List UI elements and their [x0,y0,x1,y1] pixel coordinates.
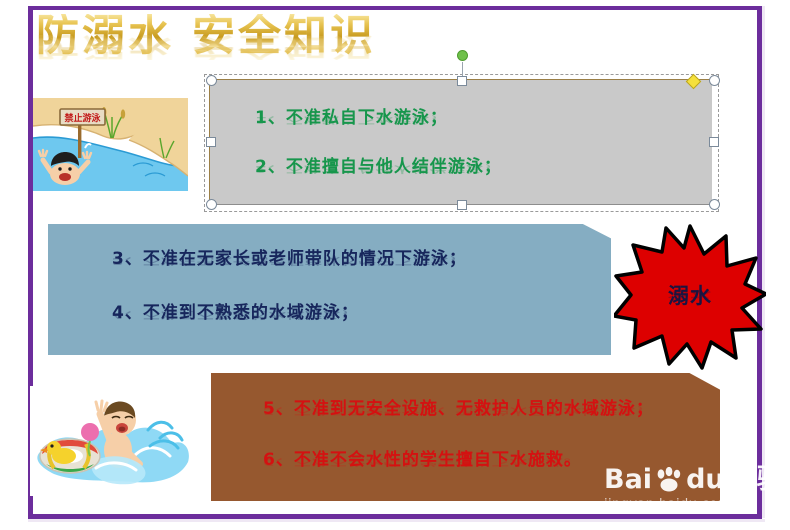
starburst-label-reflection: 溺水 [614,288,766,305]
slide-title[interactable]: 防溺水 安全知识 防溺水 安全知识 [34,6,364,88]
rules-box-blue[interactable]: 3、不准在无家长或老师带队的情况下游泳；3、不准在无家长或老师带队的情况下游泳；… [48,224,611,355]
svg-text:禁止游泳: 禁止游泳 [64,112,101,124]
rule-line-6: 6、不准不会水性的学生擅自下水施救。6、不准不会水性的学生擅自下水施救。 [263,445,582,470]
rules-box-brown[interactable]: 5、不准到无安全设施、无救护人员的水域游泳；5、不准到无安全设施、无救护人员的水… [211,373,720,501]
rule-line-5-reflection: 5、不准到无安全设施、无救护人员的水域游泳； [263,405,654,419]
rule-line-6-reflection: 6、不准不会水性的学生擅自下水施救。 [263,456,582,470]
slide-title-reflection: 防溺水 安全知识 [36,32,376,60]
rule-line-4: 4、不准到不熟悉的水域游泳；4、不准到不熟悉的水域游泳； [112,298,359,323]
drowning-warning-starburst[interactable]: 溺水 溺水 [614,224,766,370]
rotate-handle[interactable] [457,50,468,61]
top-center-handle[interactable] [457,76,467,86]
rule-line-1-reflection: 1、不准私自下水游泳； [255,114,448,128]
rule-line-1: 1、不准私自下水游泳；1、不准私自下水游泳； [255,103,448,128]
middle-left-handle[interactable] [206,137,216,147]
rule-line-3: 3、不准在无家长或老师带队的情况下游泳；3、不准在无家长或老师带队的情况下游泳； [112,244,467,269]
bottom-right-handle[interactable] [709,199,720,210]
top-right-handle[interactable] [709,75,720,86]
rule-line-3-reflection: 3、不准在无家长或老师带队的情况下游泳； [112,255,467,269]
rule-line-2-reflection: 2、不准擅自与他人结伴游泳； [255,163,502,177]
bottom-left-handle[interactable] [206,199,217,210]
top-left-handle[interactable] [206,75,217,86]
rule-line-5: 5、不准到无安全设施、无救护人员的水域游泳；5、不准到无安全设施、无救护人员的水… [263,394,654,419]
frame-shadow-bottom [28,519,765,522]
rule-line-4-reflection: 4、不准到不熟悉的水域游泳； [112,309,359,323]
no-swimming-sign-illustration[interactable]: 禁止游泳 [33,96,188,191]
rules-box-grey[interactable]: 1、不准私自下水游泳；1、不准私自下水游泳； 2、不准擅自与他人结伴游泳；2、不… [209,79,712,205]
slide-canvas: 防溺水 安全知识 防溺水 安全知识 [0,0,790,530]
rule-line-2: 2、不准擅自与他人结伴游泳；2、不准擅自与他人结伴游泳； [255,152,502,177]
bottom-center-handle[interactable] [457,200,467,210]
middle-right-handle[interactable] [709,137,719,147]
drowning-child-illustration[interactable] [30,386,198,496]
